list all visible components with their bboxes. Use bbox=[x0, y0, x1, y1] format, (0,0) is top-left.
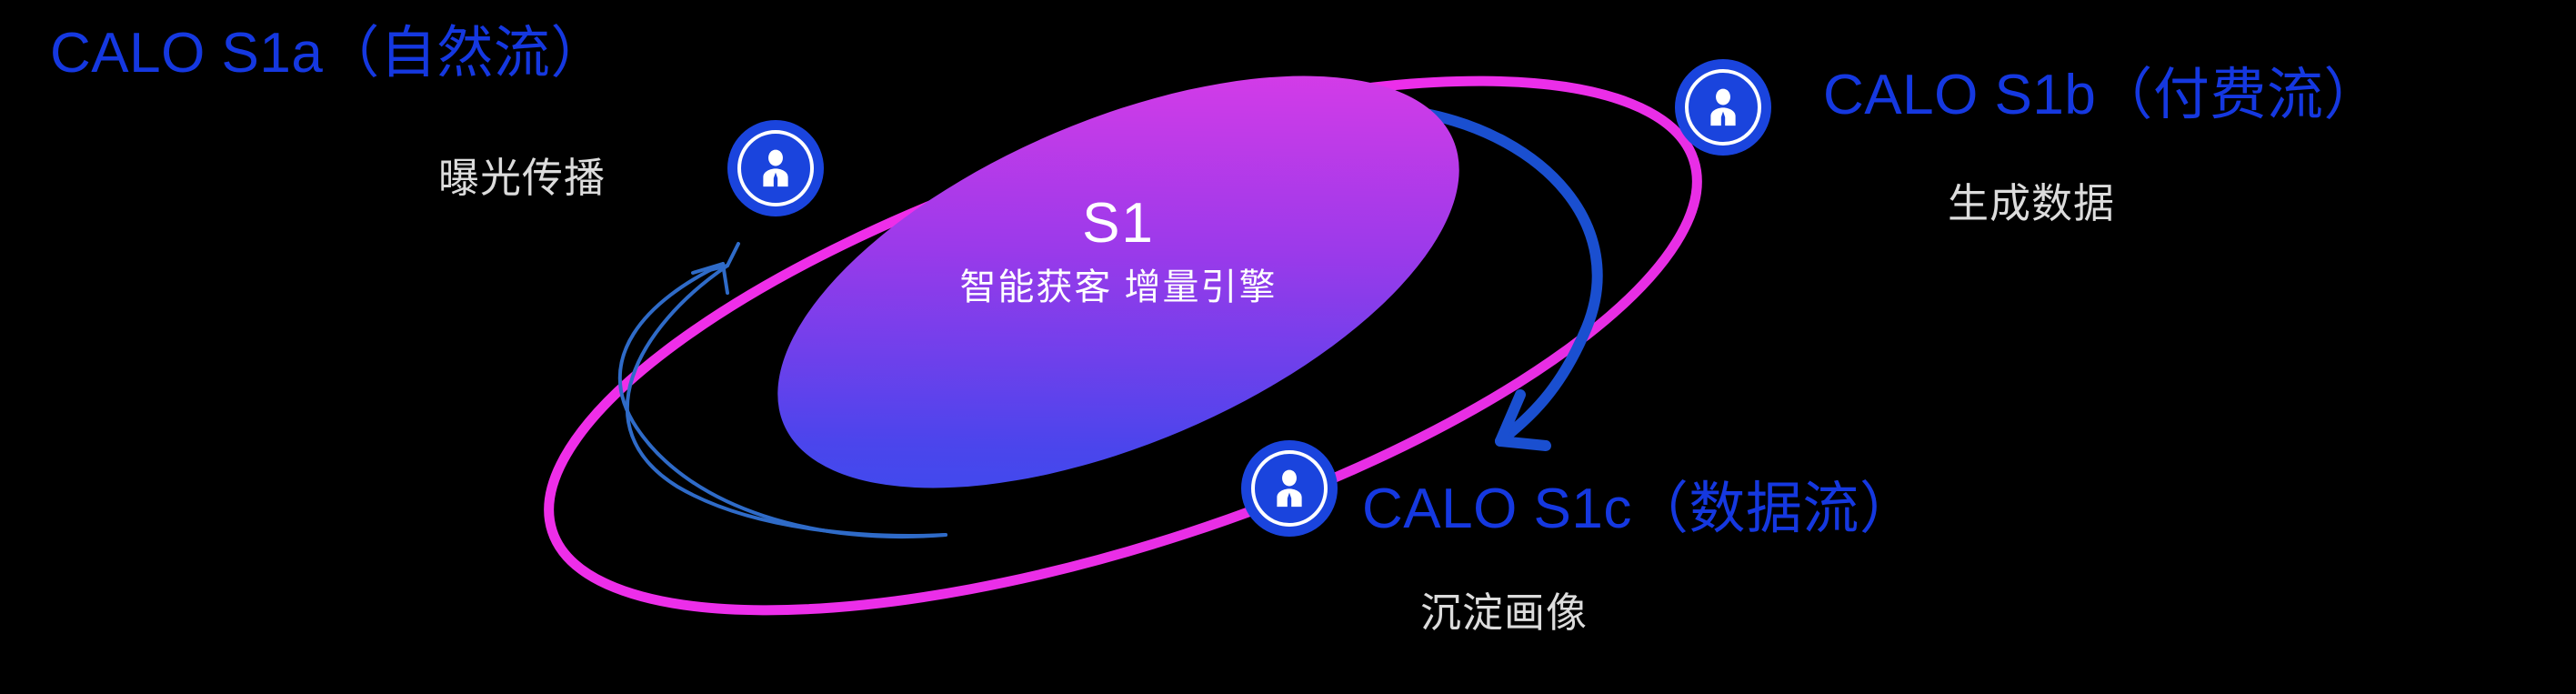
node-s1b-secondary-label: 生成数据 bbox=[1948, 182, 2115, 225]
diagram-canvas: S1 智能获客 增量引擎 CALO S1a（自然流） 曝光传播 CALO S1b… bbox=[0, 0, 2576, 694]
node-s1b-primary-label: CALO S1b（付费流） bbox=[1823, 65, 2381, 125]
node-s1a-secondary-label: 曝光传播 bbox=[438, 156, 606, 199]
core-title: S1 bbox=[846, 196, 1391, 252]
core-label-group: S1 智能获客 增量引擎 bbox=[846, 196, 1391, 310]
node-s1c-avatar[interactable] bbox=[1241, 440, 1338, 537]
node-s1a-avatar[interactable] bbox=[727, 120, 824, 216]
node-s1c-primary-label: CALO S1c（数据流） bbox=[1362, 479, 1916, 538]
core-subtitle: 智能获客 增量引擎 bbox=[846, 257, 1391, 310]
node-s1b-avatar[interactable] bbox=[1675, 59, 1771, 156]
node-s1c-secondary-label: 沉淀画像 bbox=[1420, 591, 1588, 634]
node-s1a-primary-label: CALO S1a（自然流） bbox=[50, 24, 607, 83]
